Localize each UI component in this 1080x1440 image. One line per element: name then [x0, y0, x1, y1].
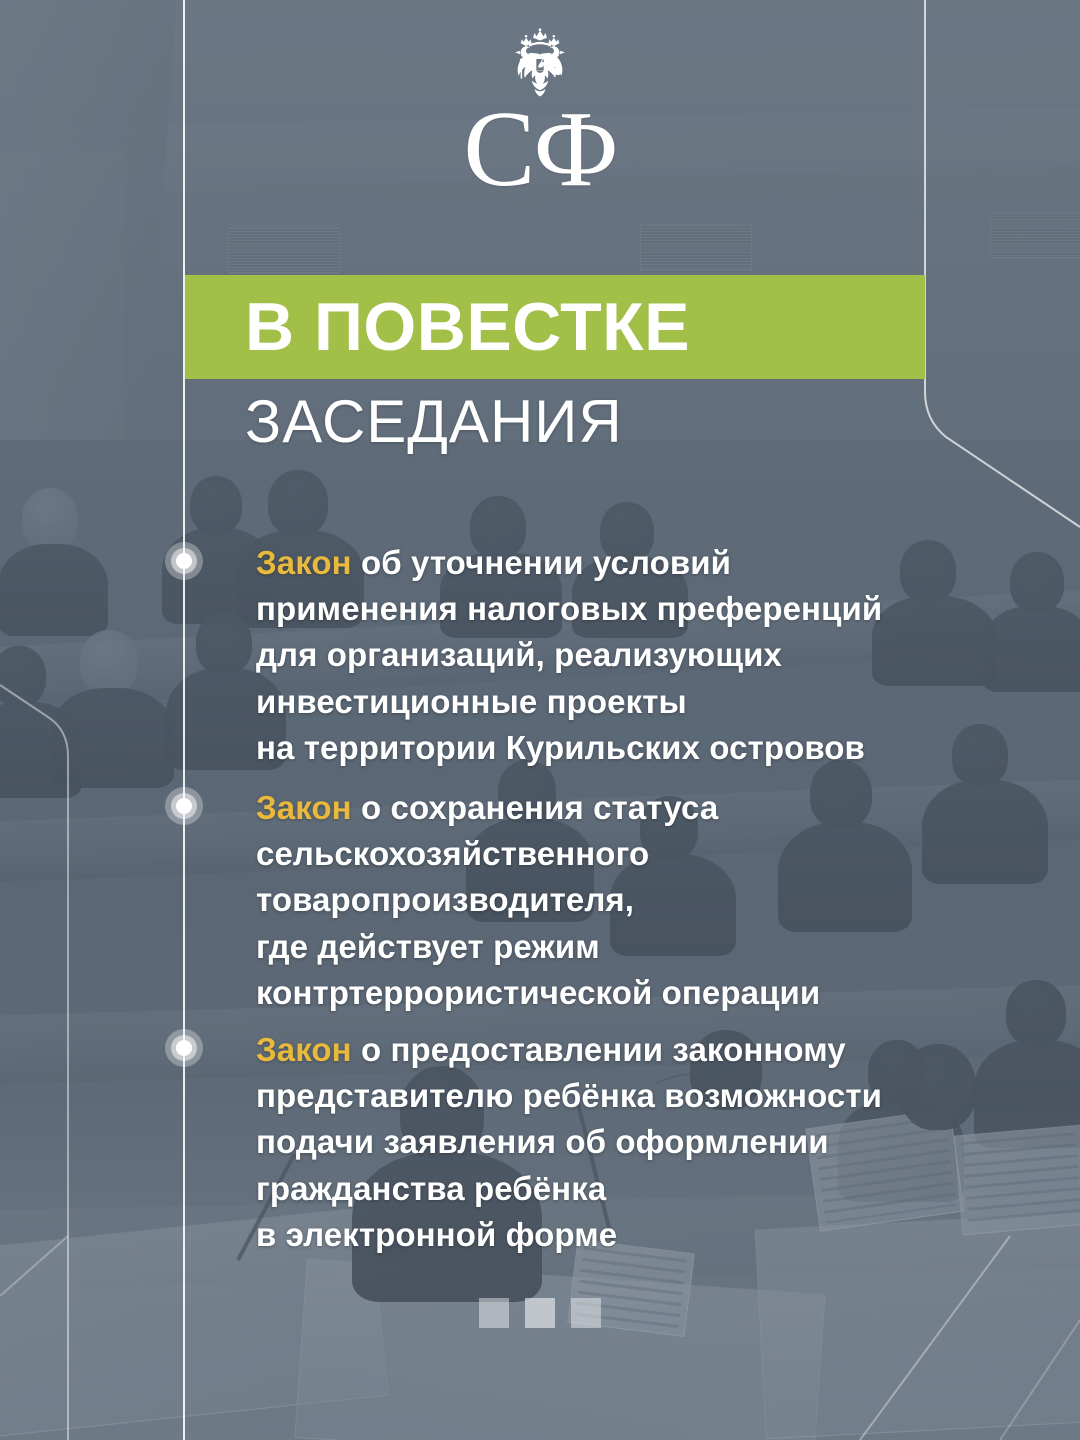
carousel-indicator-3[interactable] — [571, 1298, 601, 1328]
agenda-item: Закон об уточнении условий применения на… — [184, 540, 944, 771]
banner-subtitle: ЗАСЕДАНИЯ — [245, 392, 623, 452]
timeline-marker-dot — [176, 798, 192, 814]
sf-logo-letters: СФ — [463, 96, 616, 204]
agenda-item-keyword: Закон — [256, 1031, 352, 1068]
agenda-item: Закон о сохранения статуса сельскохозяйс… — [184, 785, 944, 1016]
poster-root: СФ В ПОВЕСТКЕ ЗАСЕДАНИЯ Закон об уточнен… — [0, 0, 1080, 1440]
agenda-item-keyword: Закон — [256, 789, 352, 826]
carousel-indicators[interactable] — [0, 1298, 1080, 1328]
banner-title: В ПОВЕСТКЕ — [245, 293, 690, 361]
carousel-indicator-2[interactable] — [525, 1298, 555, 1328]
carousel-indicator-1[interactable] — [479, 1298, 509, 1328]
agenda-item-text: Закон о предоставлении законному предста… — [256, 1027, 882, 1258]
agenda-item-text: Закон о сохранения статуса сельскохозяйс… — [256, 785, 820, 1016]
agenda-banner: В ПОВЕСТКЕ — [185, 275, 925, 379]
sf-logo: СФ — [0, 28, 1080, 204]
agenda-item: Закон о предоставлении законному предста… — [184, 1027, 944, 1258]
timeline-marker-dot — [176, 553, 192, 569]
timeline-marker-dot — [176, 1040, 192, 1056]
agenda-item-keyword: Закон — [256, 544, 352, 581]
agenda-item-text: Закон об уточнении условий применения на… — [256, 540, 882, 771]
